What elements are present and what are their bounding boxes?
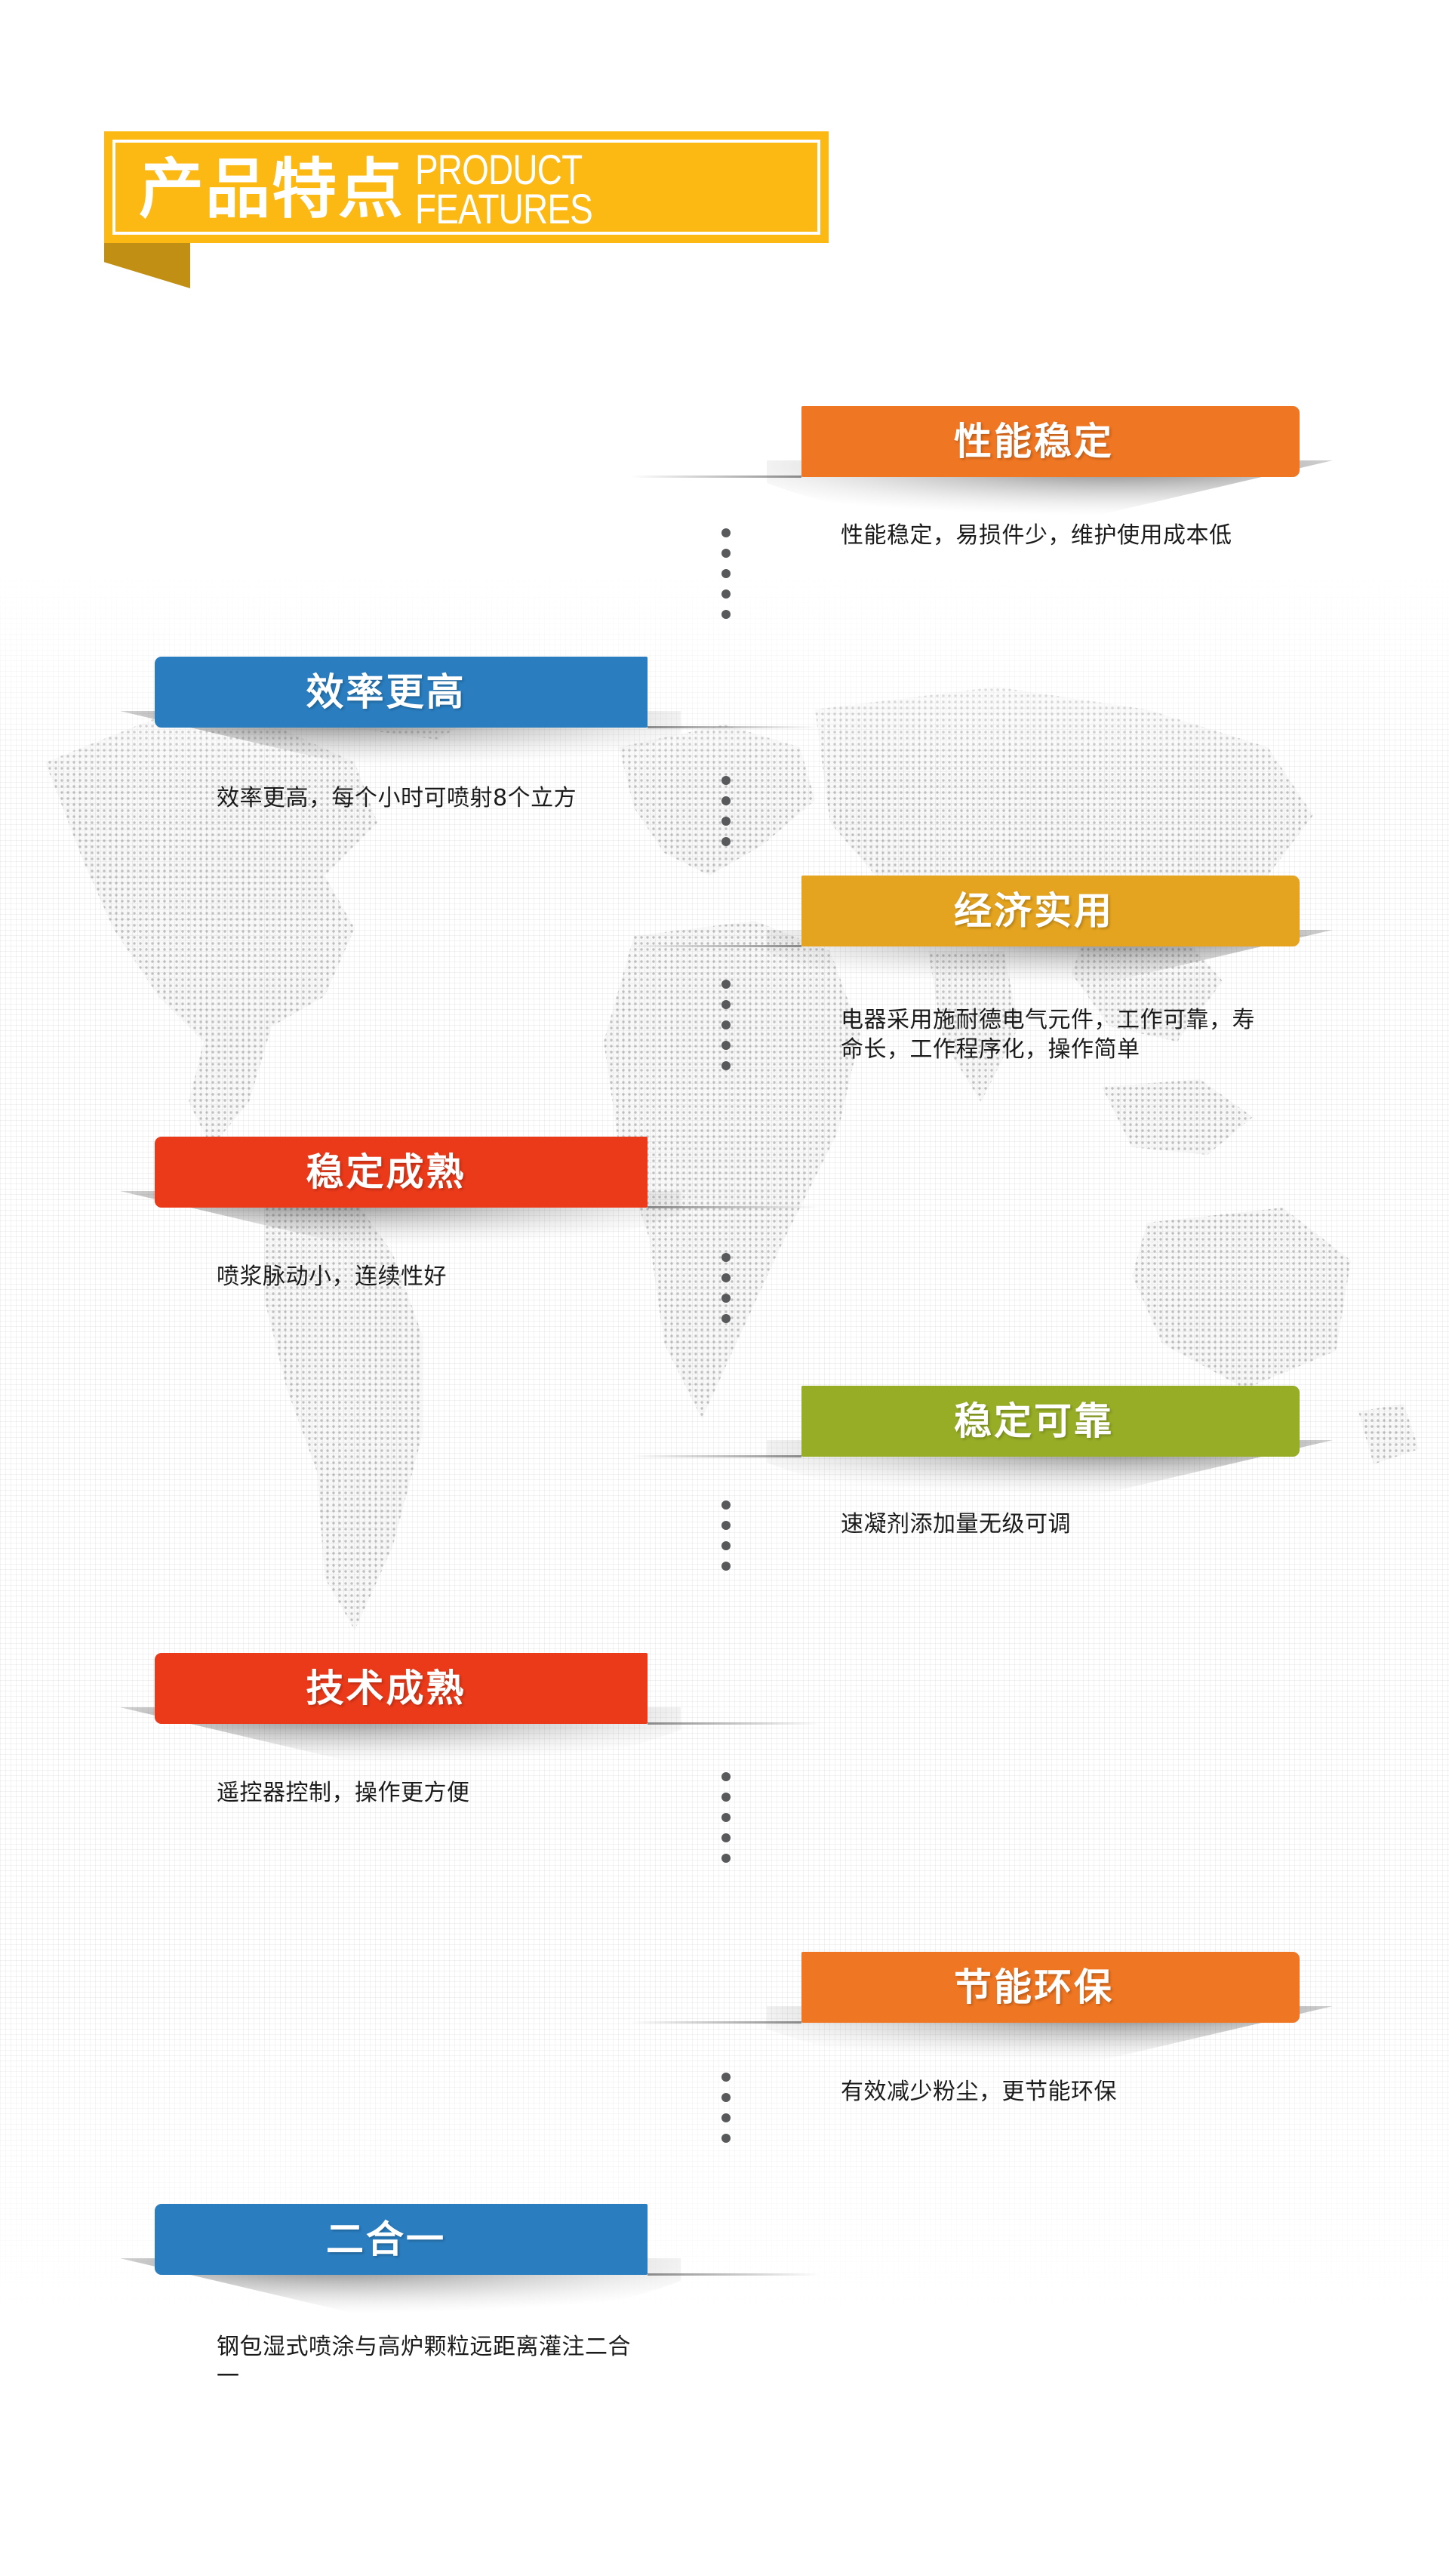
feature-card[interactable]: 二合一 — [155, 2204, 648, 2275]
connector-dot — [721, 817, 731, 826]
connector-dot — [721, 2113, 731, 2122]
connector-dot — [721, 2093, 731, 2102]
feature-card-title: 稳定成熟 — [306, 1153, 466, 1191]
page-title: 产品特点 — [139, 157, 405, 222]
feature-item: 效率更高效率更高，每个小时可喷射8个立方 — [155, 657, 648, 728]
feature-item: 经济实用电器采用施耐德电气元件，工作可靠，寿命长，工作程序化，操作简单 — [801, 876, 1300, 946]
feature-card[interactable]: 效率更高 — [155, 657, 648, 728]
connector-dot — [721, 980, 731, 989]
connector-dot — [721, 1854, 731, 1863]
connector-dots — [721, 1253, 731, 1334]
feature-description: 钢包湿式喷涂与高炉颗粒远距离灌注二合一 — [217, 2332, 639, 2391]
connector-dot — [721, 1273, 731, 1282]
feature-card-title: 效率更高 — [306, 673, 466, 711]
connector-dot — [721, 1061, 731, 1070]
banner-fold-tab — [104, 243, 190, 288]
feature-item: 技术成熟遥控器控制，操作更方便 — [155, 1653, 648, 1724]
feature-description: 效率更高，每个小时可喷射8个立方 — [217, 783, 624, 813]
feature-card-title: 节能环保 — [954, 1968, 1114, 2006]
connector-dot — [721, 2073, 731, 2082]
feature-description: 电器采用施耐德电气元件，工作可靠，寿命长，工作程序化，操作简单 — [841, 1005, 1263, 1064]
card-rule — [648, 726, 820, 728]
feature-card-title: 经济实用 — [954, 892, 1114, 930]
connector-dot — [721, 1294, 731, 1303]
feature-card-title: 性能稳定 — [954, 423, 1114, 460]
feature-description: 遥控器控制，操作更方便 — [217, 1778, 669, 1808]
feature-card[interactable]: 性能稳定 — [801, 406, 1300, 477]
feature-card-title: 稳定可靠 — [954, 1402, 1114, 1440]
connector-dot — [721, 589, 731, 599]
feature-description: 喷浆脉动小，连续性好 — [217, 1262, 669, 1291]
connector-dots — [721, 980, 731, 1082]
card-rule — [631, 475, 801, 478]
connector-dot — [721, 1521, 731, 1530]
feature-description: 速凝剂添加量无级可调 — [841, 1510, 1294, 1539]
connector-dot — [721, 776, 731, 785]
connector-dot — [721, 1500, 731, 1510]
feature-card[interactable]: 稳定成熟 — [155, 1137, 648, 1208]
card-rule — [648, 2273, 820, 2276]
connector-dots — [721, 1500, 731, 1582]
feature-item: 稳定成熟喷浆脉动小，连续性好 — [155, 1137, 648, 1208]
connector-dot — [721, 837, 731, 846]
feature-item: 性能稳定性能稳定，易损件少，维护使用成本低 — [801, 406, 1300, 477]
page-title-banner: 产品特点 PRODUCT FEATURES — [104, 131, 829, 243]
page-title-english: PRODUCT FEATURES — [415, 150, 632, 229]
connector-dot — [721, 1813, 731, 1822]
connector-dot — [721, 1253, 731, 1262]
page-title-english-line2: FEATURES — [415, 189, 592, 229]
connector-dot — [721, 1833, 731, 1842]
card-rule — [648, 1206, 820, 1208]
connector-dot — [721, 1772, 731, 1781]
feature-card-title: 技术成熟 — [306, 1670, 466, 1707]
connector-dot — [721, 1000, 731, 1009]
connector-dot — [721, 549, 731, 558]
connector-dot — [721, 569, 731, 578]
feature-card[interactable]: 稳定可靠 — [801, 1386, 1300, 1457]
card-rule — [648, 1722, 820, 1725]
feature-description: 性能稳定，易损件少，维护使用成本低 — [841, 521, 1263, 550]
card-rule — [631, 1455, 801, 1457]
connector-dots — [721, 528, 731, 630]
connector-dot — [721, 610, 731, 619]
feature-card[interactable]: 技术成熟 — [155, 1653, 648, 1724]
connector-dots — [721, 776, 731, 857]
connector-dot — [721, 1541, 731, 1550]
card-rule — [631, 945, 801, 947]
feature-item: 节能环保有效减少粉尘，更节能环保 — [801, 1952, 1300, 2023]
feature-card[interactable]: 节能环保 — [801, 1952, 1300, 2023]
feature-item: 稳定可靠速凝剂添加量无级可调 — [801, 1386, 1300, 1457]
card-rule — [631, 2021, 801, 2024]
connector-dot — [721, 1314, 731, 1323]
feature-card[interactable]: 经济实用 — [801, 876, 1300, 946]
connector-dot — [721, 1562, 731, 1571]
page-title-english-line1: PRODUCT — [415, 150, 592, 189]
connector-dot — [721, 1041, 731, 1050]
connector-dot — [721, 1793, 731, 1802]
connector-dot — [721, 2134, 731, 2143]
connector-dot — [721, 528, 731, 537]
connector-dot — [721, 796, 731, 805]
feature-item: 二合一钢包湿式喷涂与高炉颗粒远距离灌注二合一 — [155, 2204, 648, 2275]
connector-dot — [721, 1020, 731, 1029]
feature-description: 有效减少粉尘，更节能环保 — [841, 2077, 1263, 2107]
connector-dots — [721, 1772, 731, 1874]
connector-dots — [721, 2073, 731, 2154]
feature-card-title: 二合一 — [326, 2221, 446, 2258]
